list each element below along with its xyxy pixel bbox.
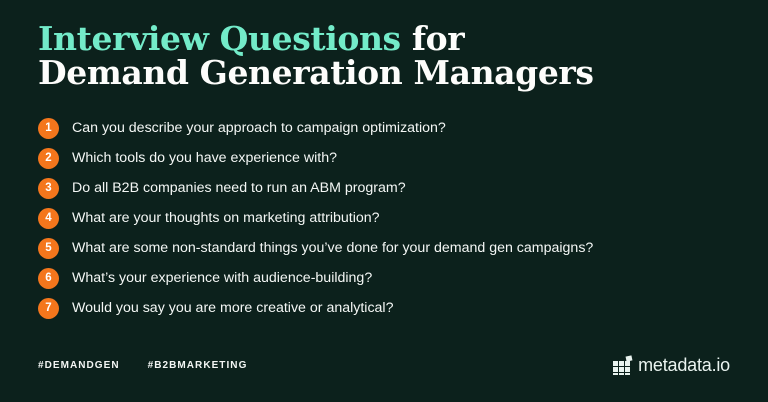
page-title: Interview Questions for Demand Generatio…: [38, 22, 738, 90]
question-text: What are some non-standard things you’ve…: [72, 238, 593, 258]
question-number-badge: 7: [38, 298, 59, 319]
grid-squares-icon: [613, 356, 633, 375]
list-item: 5 What are some non-standard things you’…: [38, 233, 738, 263]
hashtag-group: #DEMANDGEN #B2BMARKETING: [38, 360, 247, 371]
question-text: Do all B2B companies need to run an ABM …: [72, 178, 406, 198]
question-number-badge: 1: [38, 118, 59, 139]
title-line-1: Interview Questions for: [38, 22, 738, 56]
hashtag-b2bmarketing: #B2BMARKETING: [148, 360, 248, 371]
footer: #DEMANDGEN #B2BMARKETING metadata.io: [0, 352, 768, 378]
question-text: What are your thoughts on marketing attr…: [72, 208, 380, 228]
list-item: 2 Which tools do you have experience wit…: [38, 143, 738, 173]
hashtag-demandgen: #DEMANDGEN: [38, 360, 120, 371]
question-number-badge: 2: [38, 148, 59, 169]
question-number-badge: 5: [38, 238, 59, 259]
slide-canvas: Interview Questions for Demand Generatio…: [0, 0, 768, 402]
question-text: What’s your experience with audience-bui…: [72, 268, 372, 288]
question-text: Which tools do you have experience with?: [72, 148, 337, 168]
brand-logo: metadata.io: [613, 356, 730, 375]
question-number-badge: 3: [38, 178, 59, 199]
question-text: Would you say you are more creative or a…: [72, 298, 393, 318]
question-number-badge: 6: [38, 268, 59, 289]
question-number-badge: 4: [38, 208, 59, 229]
list-item: 4 What are your thoughts on marketing at…: [38, 203, 738, 233]
list-item: 7 Would you say you are more creative or…: [38, 293, 738, 323]
question-text: Can you describe your approach to campai…: [72, 118, 446, 138]
list-item: 6 What’s your experience with audience-b…: [38, 263, 738, 293]
question-list: 1 Can you describe your approach to camp…: [38, 113, 738, 323]
list-item: 3 Do all B2B companies need to run an AB…: [38, 173, 738, 203]
brand-wordmark: metadata.io: [638, 356, 730, 374]
title-line-2: Demand Generation Managers: [38, 56, 738, 90]
list-item: 1 Can you describe your approach to camp…: [38, 113, 738, 143]
